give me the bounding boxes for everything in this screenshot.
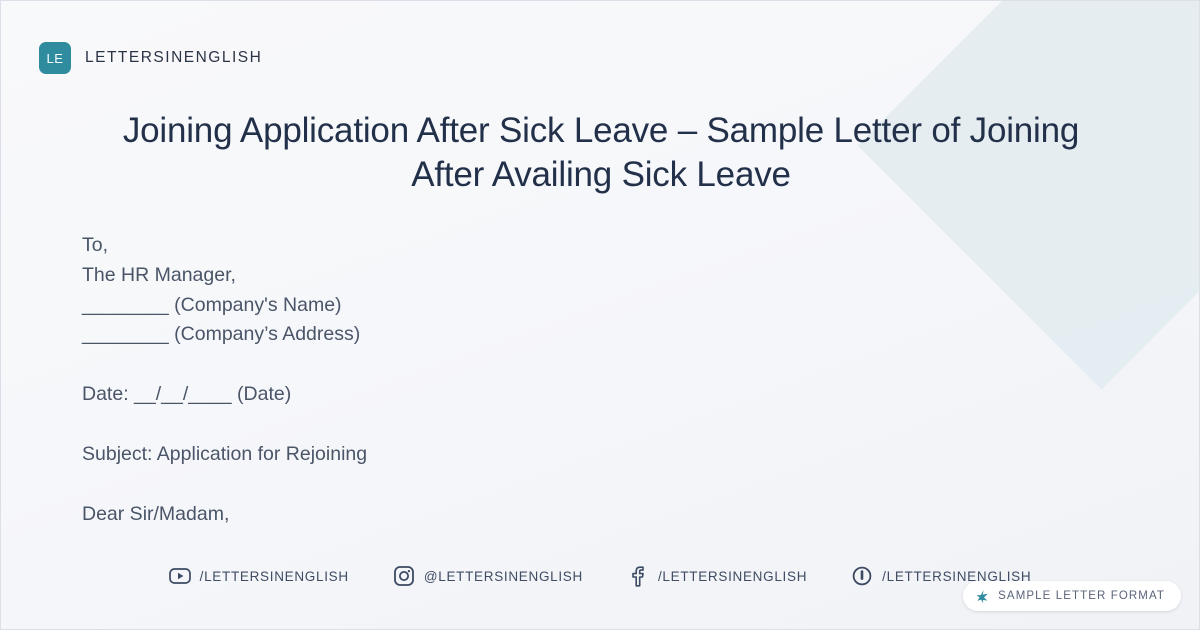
social-link-instagram[interactable]: @LETTERSINENGLISH	[393, 565, 583, 587]
brand-name: LETTERSINENGLISH	[85, 49, 262, 67]
instagram-icon	[393, 565, 415, 587]
social-link-youtube[interactable]: /LETTERSINENGLISH	[169, 565, 349, 587]
letter-body: To, The HR Manager, ________ (Company's …	[82, 231, 782, 530]
brand-logo: LE	[39, 42, 71, 74]
letter-line-salutation: Dear Sir/Madam,	[82, 500, 782, 530]
letter-spacer	[82, 470, 782, 500]
letter-spacer	[82, 350, 782, 380]
letter-spacer	[82, 410, 782, 440]
social-label-facebook: /LETTERSINENGLISH	[658, 569, 807, 584]
social-link-facebook[interactable]: /LETTERSINENGLISH	[627, 565, 807, 587]
facebook-icon	[627, 565, 649, 587]
lightning-bolt-icon	[975, 589, 990, 604]
badge-label: SAMPLE LETTER FORMAT	[998, 590, 1165, 602]
letter-line: ________ (Company’s Address)	[82, 320, 782, 350]
letter-line-subject: Subject: Application for Rejoining	[82, 440, 782, 470]
social-label-instagram: @LETTERSINENGLISH	[424, 569, 583, 584]
letter-line-date: Date: __/__/____ (Date)	[82, 380, 782, 410]
brand-header: LE LETTERSINENGLISH	[39, 42, 262, 74]
social-label-youtube: /LETTERSINENGLISH	[200, 569, 349, 584]
page-title: Joining Application After Sick Leave – S…	[101, 109, 1101, 197]
sample-letter-format-badge[interactable]: SAMPLE LETTER FORMAT	[963, 581, 1181, 611]
letter-line: ________ (Company's Name)	[82, 291, 782, 321]
pinterest-icon	[851, 565, 873, 587]
social-share-card: LE LETTERSINENGLISH Joining Application …	[0, 0, 1200, 630]
youtube-icon	[169, 565, 191, 587]
letter-line: To,	[82, 231, 782, 261]
letter-line: The HR Manager,	[82, 261, 782, 291]
